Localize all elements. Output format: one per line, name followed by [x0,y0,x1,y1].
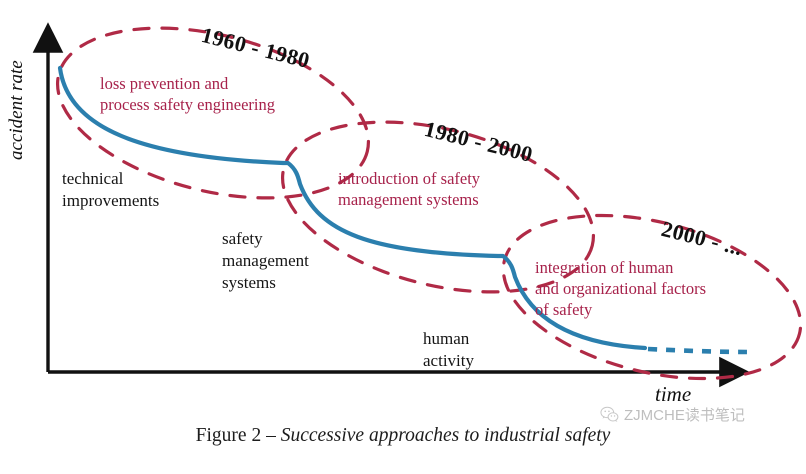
ellipse-caption-1-line-1: loss prevention and [100,73,275,94]
ellipse-caption-1: loss prevention and process safety engin… [100,73,275,115]
ellipse-caption-3-line-3: of safety [535,299,706,320]
watermark: ZJMCHE读书笔记 [600,404,745,425]
watermark-text: ZJMCHE读书笔记 [624,404,745,425]
ellipse-caption-2: introduction of safety management system… [338,168,480,210]
curve-annotation-3: human activity [423,328,474,372]
wechat-icon [600,405,619,424]
figure-caption-prefix: Figure 2 – [196,425,281,446]
curve-annotation-2-line-3: systems [222,272,309,294]
curve-annotation-2-line-2: management [222,250,309,272]
accident-rate-projection [648,349,748,352]
curve-annotation-1-line-1: technical [62,168,159,190]
ellipse-caption-3-line-2: and organizational factors [535,278,706,299]
curve-annotation-2-line-1: safety [222,228,309,250]
y-axis-label: accident rate [6,20,28,160]
curve-annotation-1-line-2: improvements [62,190,159,212]
figure-container: accident rate time 1960 - 1980 1980 - 20… [0,0,806,474]
ellipse-caption-3-line-1: integration of human [535,257,706,278]
ellipse-caption-2-line-1: introduction of safety [338,168,480,189]
figure-caption-title: Successive approaches to industrial safe… [281,425,611,446]
curve-annotation-2: safety management systems [222,228,309,294]
ellipse-caption-1-line-2: process safety engineering [100,94,275,115]
ellipse-caption-2-line-2: management systems [338,189,480,210]
figure-caption: Figure 2 – Successive approaches to indu… [0,425,806,447]
curve-annotation-1: technical improvements [62,168,159,212]
curve-annotation-3-line-2: activity [423,350,474,372]
ellipse-caption-3: integration of human and organizational … [535,257,706,320]
curve-annotation-3-line-1: human [423,328,474,350]
